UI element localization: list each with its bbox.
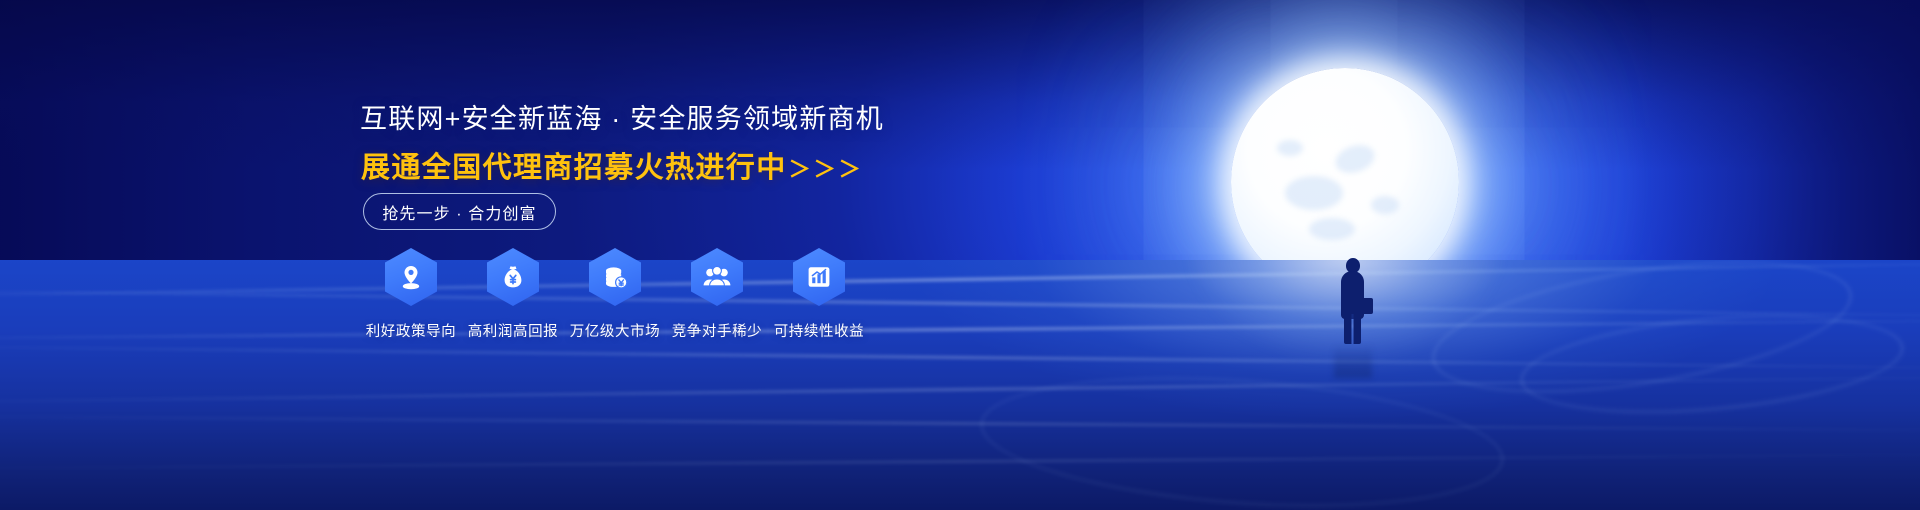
banner-subheadline: 展通全国代理商招募火热进行中 ＞＞＞	[361, 144, 864, 186]
figure-reflection	[1334, 344, 1372, 378]
moon-crater	[1285, 176, 1343, 210]
feature-item-market[interactable]: 万亿级大市场	[564, 248, 666, 341]
person-silhouette-icon	[1332, 258, 1374, 344]
moon-crater	[1309, 218, 1355, 240]
banner-headline: 互联网+安全新蓝海 · 安全服务领域新商机	[360, 97, 884, 136]
promotional-banner: 互联网+安全新蓝海 · 安全服务领域新商机 展通全国代理商招募火热进行中 ＞＞＞…	[0, 0, 1920, 510]
feature-item-competition[interactable]: 竞争对手稀少	[666, 248, 768, 341]
people-group-icon	[691, 248, 743, 306]
figure-legs	[1344, 314, 1361, 344]
chevron-right-arrows-icon: ＞＞＞	[789, 152, 864, 184]
feature-label: 可持续性收益	[774, 320, 865, 341]
feature-item-policy[interactable]: 利好政策导向	[360, 248, 462, 341]
cta-pill-button[interactable]: 抢先一步 · 合力创富	[363, 193, 556, 230]
bar-chart-growth-icon	[793, 248, 845, 306]
moon-crater	[1371, 196, 1399, 214]
cta-pill-label: 抢先一步 · 合力创富	[382, 200, 536, 224]
figure-bag	[1362, 298, 1373, 314]
money-bag-yen-icon	[487, 248, 539, 306]
feature-label: 竞争对手稀少	[672, 320, 763, 341]
figure-body	[1341, 271, 1364, 319]
subheadline-text: 展通全国代理商招募火热进行中	[361, 144, 787, 186]
banner-content: 互联网+安全新蓝海 · 安全服务领域新商机 展通全国代理商招募火热进行中 ＞＞＞…	[360, 0, 880, 510]
location-pin-icon	[385, 248, 437, 306]
feature-label: 万亿级大市场	[570, 320, 661, 341]
coin-stack-yen-icon	[589, 248, 641, 306]
moon-crater	[1277, 140, 1303, 156]
feature-item-profit[interactable]: 高利润高回报	[462, 248, 564, 341]
feature-label: 高利润高回报	[468, 320, 559, 341]
moon-crater	[1332, 140, 1378, 177]
feature-list: 利好政策导向 高利润高回报	[360, 248, 870, 341]
feature-item-sustainable[interactable]: 可持续性收益	[768, 248, 870, 341]
ocean-scene	[0, 260, 1920, 510]
feature-label: 利好政策导向	[366, 320, 457, 341]
